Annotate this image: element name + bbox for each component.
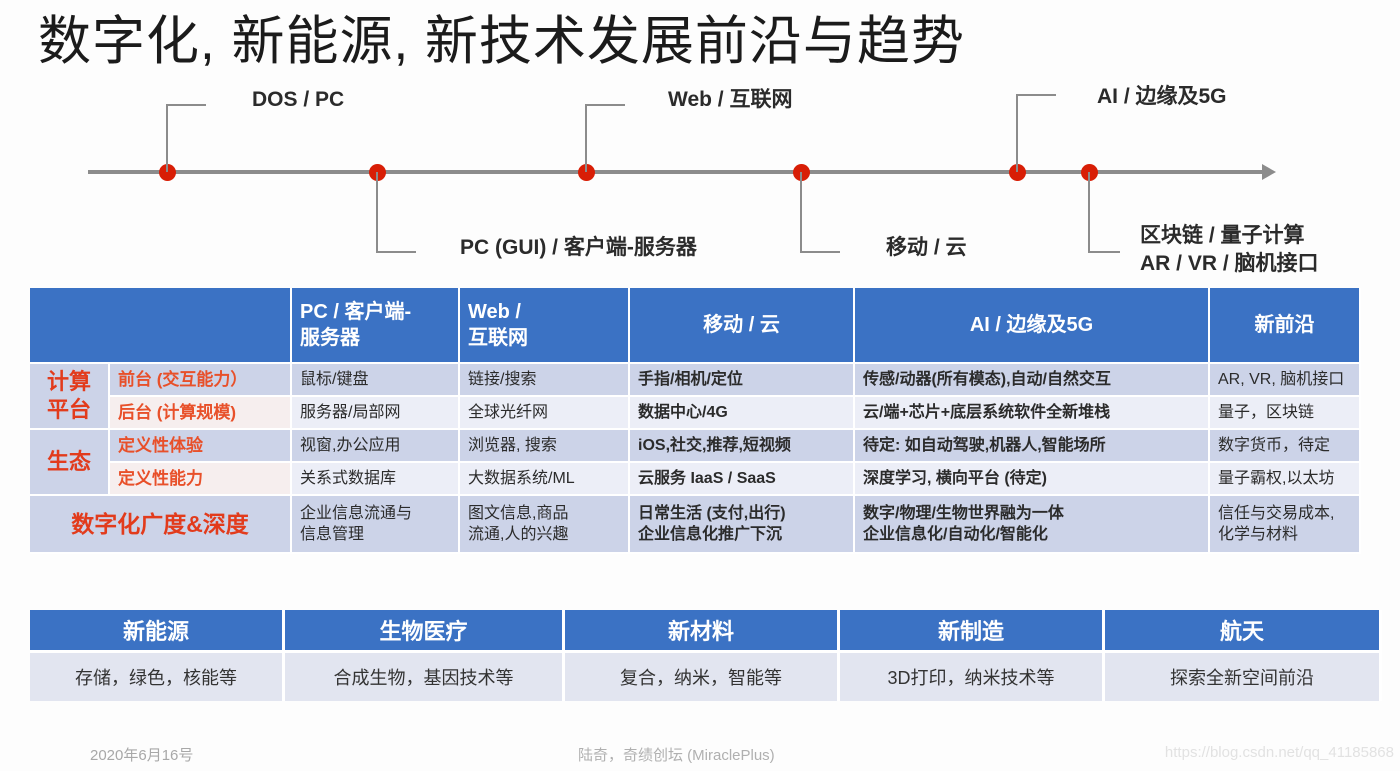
timeline-dot-2[interactable] <box>369 164 386 181</box>
cell-backend-web: 全球光纤网 <box>460 397 630 430</box>
footer-author: 陆奇，奇绩创坛 (MiraclePlus) <box>578 744 775 765</box>
watermark-url: https://blog.csdn.net/qq_41185868 <box>1165 744 1394 761</box>
cell-experience-mobile: iOS,社交,推荐,短视频 <box>630 430 855 463</box>
cell-capability-ai: 深度学习, 横向平台 (待定) <box>855 463 1210 496</box>
timeline-dot-5[interactable] <box>1009 164 1026 181</box>
cell-breadth-web-line1: 图文信息,商品 <box>468 503 620 524</box>
timeline-label-2: PC (GUI) / 客户端-服务器 <box>460 234 697 261</box>
bottom-cell-aerospace: 探索全新空间前沿 <box>1105 653 1382 701</box>
leader-line-6-horizontal <box>1088 251 1120 253</box>
leader-line-4-vertical <box>800 172 802 252</box>
leader-line-2-horizontal <box>376 251 416 253</box>
bottom-header-row: 新能源 生物医疗 新材料 新制造 航天 <box>30 610 1382 653</box>
page-title: 数字化, 新能源, 新技术发展前沿与趋势 <box>38 6 965 78</box>
table-header-row: PC / 客户端- 服务器 Web / 互联网 移动 / 云 AI / 边缘及5… <box>30 288 1361 364</box>
bottom-header-new-manufacturing: 新制造 <box>840 610 1105 653</box>
bottom-cell-new-manufacturing: 3D打印，纳米技术等 <box>840 653 1105 701</box>
cell-backend-frontier: 量子，区块链 <box>1210 397 1361 430</box>
cell-breadth-ai-line1: 数字/物理/生物世界融为一体 <box>863 503 1200 524</box>
bottom-header-aerospace: 航天 <box>1105 610 1382 653</box>
cell-backend-pc: 服务器/局部网 <box>292 397 460 430</box>
header-ai: AI / 边缘及5G <box>855 288 1210 364</box>
cell-capability-frontier: 量子霸权,以太坊 <box>1210 463 1361 496</box>
cell-frontend-mobile: 手指/相机/定位 <box>630 364 855 397</box>
timeline: DOS / PC PC (GUI) / 客户端-服务器 Web / 互联网 移动… <box>0 86 1400 282</box>
timeline-dot-4[interactable] <box>793 164 810 181</box>
cell-frontend-ai: 传感/动器(所有模态),自动/自然交互 <box>855 364 1210 397</box>
cell-experience-web: 浏览器, 搜索 <box>460 430 630 463</box>
header-web: Web / 互联网 <box>460 288 630 364</box>
leader-line-5-vertical <box>1016 94 1018 172</box>
cell-breadth-frontier-line1: 信任与交易成本, <box>1218 503 1351 524</box>
bottom-value-row: 存储，绿色，核能等 合成生物，基因技术等 复合，纳米，智能等 3D打印，纳米技术… <box>30 653 1382 701</box>
cell-frontend-frontier: AR, VR, 脑机接口 <box>1210 364 1361 397</box>
leader-line-1-vertical <box>166 104 168 172</box>
cell-backend-mobile: 数据中心/4G <box>630 397 855 430</box>
leader-line-4-horizontal <box>800 251 840 253</box>
cell-breadth-pc: 企业信息流通与 信息管理 <box>292 496 460 554</box>
timeline-dot-3[interactable] <box>578 164 595 181</box>
cell-frontend-pc: 鼠标/键盘 <box>292 364 460 397</box>
table-row: 计算 平台 前台 (交互能力） 鼠标/键盘 链接/搜索 手指/相机/定位 传感/… <box>30 364 1361 397</box>
cell-breadth-mobile-line2: 企业信息化推广下沉 <box>638 524 845 545</box>
subrow-label-frontend: 前台 (交互能力） <box>110 364 292 397</box>
cell-frontend-web: 链接/搜索 <box>460 364 630 397</box>
table-row: 生态 定义性体验 视窗,办公应用 浏览器, 搜索 iOS,社交,推荐,短视频 待… <box>30 430 1361 463</box>
header-frontier: 新前沿 <box>1210 288 1361 364</box>
timeline-arrow-icon <box>1262 164 1276 180</box>
header-blank <box>30 288 292 364</box>
timeline-label-6-line2: AR / VR / 脑机接口 <box>1140 250 1319 277</box>
timeline-label-3: Web / 互联网 <box>668 86 792 113</box>
header-pc: PC / 客户端- 服务器 <box>292 288 460 364</box>
emerging-sectors-table: 新能源 生物医疗 新材料 新制造 航天 存储，绿色，核能等 合成生物，基因技术等… <box>30 610 1382 701</box>
category-ecosystem: 生态 <box>30 430 110 496</box>
cell-capability-pc: 关系式数据库 <box>292 463 460 496</box>
subrow-label-backend: 后台 (计算规模) <box>110 397 292 430</box>
category-compute-line2: 平台 <box>38 396 100 424</box>
cell-experience-pc: 视窗,办公应用 <box>292 430 460 463</box>
cell-breadth-mobile-line1: 日常生活 (支付,出行) <box>638 503 845 524</box>
bottom-cell-biomedical: 合成生物，基因技术等 <box>285 653 565 701</box>
cell-breadth-web-line2: 流通,人的兴趣 <box>468 524 620 545</box>
leader-line-3-horizontal <box>585 104 625 106</box>
header-pc-line2: 服务器 <box>300 325 450 351</box>
leader-line-3-vertical <box>585 104 587 172</box>
bottom-header-biomedical: 生物医疗 <box>285 610 565 653</box>
cell-breadth-pc-line1: 企业信息流通与 <box>300 503 450 524</box>
bottom-cell-new-materials: 复合，纳米，智能等 <box>565 653 840 701</box>
category-compute-platform: 计算 平台 <box>30 364 110 430</box>
category-digital-breadth-depth: 数字化广度&深度 <box>30 496 292 554</box>
table-row: 数字化广度&深度 企业信息流通与 信息管理 图文信息,商品 流通,人的兴趣 日常… <box>30 496 1361 554</box>
cell-experience-frontier: 数字货币，待定 <box>1210 430 1361 463</box>
leader-line-2-vertical <box>376 172 378 252</box>
timeline-dot-1[interactable] <box>159 164 176 181</box>
timeline-label-6-line1: 区块链 / 量子计算 <box>1140 222 1305 249</box>
bottom-header-new-energy: 新能源 <box>30 610 285 653</box>
subrow-label-defining-experience: 定义性体验 <box>110 430 292 463</box>
capability-matrix-table: PC / 客户端- 服务器 Web / 互联网 移动 / 云 AI / 边缘及5… <box>30 288 1361 554</box>
subrow-label-defining-capability: 定义性能力 <box>110 463 292 496</box>
slide-root: 数字化, 新能源, 新技术发展前沿与趋势 DOS / PC PC (GUI) /… <box>0 0 1400 771</box>
header-web-line2: 互联网 <box>468 325 620 351</box>
cell-breadth-mobile: 日常生活 (支付,出行) 企业信息化推广下沉 <box>630 496 855 554</box>
cell-breadth-web: 图文信息,商品 流通,人的兴趣 <box>460 496 630 554</box>
timeline-label-4: 移动 / 云 <box>886 234 967 261</box>
bottom-header-new-materials: 新材料 <box>565 610 840 653</box>
header-pc-line1: PC / 客户端- <box>300 299 450 325</box>
bottom-cell-new-energy: 存储，绿色，核能等 <box>30 653 285 701</box>
cell-capability-mobile: 云服务 IaaS / SaaS <box>630 463 855 496</box>
category-ecosystem-line1: 生态 <box>38 448 100 476</box>
cell-breadth-ai-line2: 企业信息化/自动化/智能化 <box>863 524 1200 545</box>
header-web-line1: Web / <box>468 299 620 325</box>
timeline-dot-6[interactable] <box>1081 164 1098 181</box>
cell-experience-ai: 待定: 如自动驾驶,机器人,智能场所 <box>855 430 1210 463</box>
category-compute-line1: 计算 <box>38 368 100 396</box>
leader-line-5-horizontal <box>1016 94 1056 96</box>
cell-breadth-frontier: 信任与交易成本, 化学与材料 <box>1210 496 1361 554</box>
cell-capability-web: 大数据系统/ML <box>460 463 630 496</box>
cell-backend-ai: 云/端+芯片+底层系统软件全新堆栈 <box>855 397 1210 430</box>
cell-breadth-pc-line2: 信息管理 <box>300 524 450 545</box>
timeline-label-5: AI / 边缘及5G <box>1097 83 1227 110</box>
cell-breadth-frontier-line2: 化学与材料 <box>1218 524 1351 545</box>
table-row: 后台 (计算规模) 服务器/局部网 全球光纤网 数据中心/4G 云/端+芯片+底… <box>30 397 1361 430</box>
leader-line-1-horizontal <box>166 104 206 106</box>
footer-date: 2020年6月16号 <box>90 744 193 765</box>
timeline-label-1: DOS / PC <box>252 86 344 113</box>
cell-breadth-ai: 数字/物理/生物世界融为一体 企业信息化/自动化/智能化 <box>855 496 1210 554</box>
leader-line-6-vertical <box>1088 172 1090 252</box>
table-row: 定义性能力 关系式数据库 大数据系统/ML 云服务 IaaS / SaaS 深度… <box>30 463 1361 496</box>
header-mobile: 移动 / 云 <box>630 288 855 364</box>
